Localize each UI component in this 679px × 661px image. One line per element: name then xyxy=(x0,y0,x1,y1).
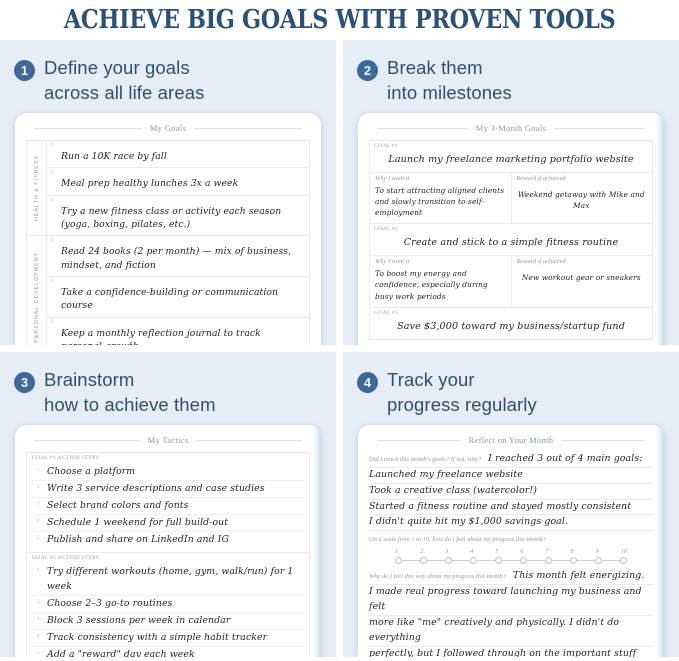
goal-label: GOAL #3 xyxy=(370,308,652,316)
notebook-page-tactics: My Tactics GOAL #1 ACTION STEPS Choose a… xyxy=(14,424,322,657)
reflection-answer-line[interactable]: more like "me" creatively and physically… xyxy=(369,616,653,647)
action-step-item[interactable]: Choose a platform xyxy=(32,464,304,481)
goal-label: GOAL #1 xyxy=(370,141,652,149)
step-number-badge-2: 2 xyxy=(357,60,378,81)
reflection-answer-3-head: This month felt energizing. xyxy=(513,569,644,584)
scale-number: 4 xyxy=(470,548,473,555)
reward-label: Reward if achieved xyxy=(517,175,647,182)
goal-block-2[interactable]: GOAL #2 Create and stick to a simple fit… xyxy=(369,223,653,306)
why-answer: To boost my energy and confidence, espec… xyxy=(375,265,505,301)
goal-row[interactable]: 3 Keep a monthly reflection journal to t… xyxy=(47,318,309,345)
scale-number: 8 xyxy=(571,548,574,555)
reflection-answer-line[interactable]: Took a creative class (watercolor!) xyxy=(369,484,653,500)
action-step-item[interactable]: Publish and share on LinkedIn and IG xyxy=(32,532,304,548)
goal-reward-cell[interactable]: Reward if achieved New workout gear or s… xyxy=(511,256,653,306)
scale-number: 10 xyxy=(621,548,627,555)
panel-4-heading: Track your progress regularly xyxy=(387,368,537,417)
reflection-answer-1-head: I reached 3 out of 4 main goals: xyxy=(488,452,642,467)
3month-sheet-title: My 3-Month Goals xyxy=(369,123,653,133)
panel-brainstorm: 3 Brainstorm how to achieve them My Tact… xyxy=(0,352,336,657)
reflection-question-1-row[interactable]: Did I reach this month's goals? If not, … xyxy=(369,452,653,468)
scale-numbers: 1 2 3 4 5 6 7 8 9 10 xyxy=(395,548,627,555)
panel-define-goals: 1 Define your goals across all life area… xyxy=(0,40,336,345)
action-step-item[interactable]: Select brand colors and fonts xyxy=(32,498,304,515)
scale-dot[interactable] xyxy=(395,557,402,564)
scale-number: 7 xyxy=(545,548,548,555)
panel-break-into-milestones: 2 Break them into milestones My 3-Month … xyxy=(343,40,679,345)
reflection-sheet: Reflect on Your Month Did I reach this m… xyxy=(358,425,664,657)
panel-grid: 1 Define your goals across all life area… xyxy=(0,40,679,657)
notebook-page-goals: My Goals HEALTH & FITNESS 1 Run a 10K ra… xyxy=(14,112,322,345)
panel-2-heading-line2: into milestones xyxy=(387,81,512,106)
goal-why-cell[interactable]: Why I want it To start attracting aligne… xyxy=(370,173,511,223)
goal-section-health: HEALTH & FITNESS 1 Run a 10K race by fal… xyxy=(26,140,310,235)
page-edge-texture xyxy=(312,533,320,611)
scale-dot[interactable] xyxy=(420,557,427,564)
panel-3-header: 3 Brainstorm how to achieve them xyxy=(0,352,336,414)
goal-title: Create and stick to a simple fitness rou… xyxy=(370,232,652,255)
why-label: Why I want it xyxy=(375,175,505,182)
section-label-personal-development: PERSONAL DEVELOPMENT xyxy=(27,236,47,345)
goal-reward-cell[interactable]: Reward if achieved Weekend getaway with … xyxy=(511,173,653,223)
scale-dot[interactable] xyxy=(445,557,452,564)
action-step-list: Try different workouts (home, gym, walk/… xyxy=(32,564,304,657)
action-steps-label: GOAL #2 ACTION STEPS xyxy=(32,555,304,561)
scale-dot[interactable] xyxy=(620,557,627,564)
notebook-page-3month-goals: My 3-Month Goals GOAL #1 Launch my freel… xyxy=(357,112,665,345)
goal-block-3[interactable]: GOAL #3 Save $3,000 toward my business/s… xyxy=(369,307,653,340)
panel-1-header: 1 Define your goals across all life area… xyxy=(0,40,336,102)
action-steps-block-1[interactable]: GOAL #1 ACTION STEPS Choose a platform W… xyxy=(26,452,310,552)
row-number: 1 xyxy=(51,238,54,243)
page-title: ACHIEVE BIG GOALS WITH PROVEN TOOLS xyxy=(64,5,615,35)
row-number: 3 xyxy=(51,320,54,325)
progress-rating-scale[interactable]: 1 2 3 4 5 6 7 8 9 10 xyxy=(369,548,653,565)
goal-why-cell[interactable]: Why I want it To boost my energy and con… xyxy=(370,256,511,306)
scale-track xyxy=(395,556,627,565)
action-step-item[interactable]: Write 3 service descriptions and case st… xyxy=(32,481,304,498)
panel-4-heading-line1: Track your xyxy=(387,369,475,390)
goal-title: Launch my freelance marketing portfolio … xyxy=(370,149,652,172)
scale-number: 9 xyxy=(596,548,599,555)
reflection-answer-line[interactable]: I made real progress toward launching my… xyxy=(369,585,653,616)
action-steps-block-2[interactable]: GOAL #2 ACTION STEPS Try different worko… xyxy=(26,552,310,657)
reflection-answer-line[interactable]: Launched my freelance website xyxy=(369,468,653,484)
title-bar: ACHIEVE BIG GOALS WITH PROVEN TOOLS xyxy=(0,0,679,40)
scale-number: 2 xyxy=(420,548,423,555)
panel-2-heading-line1: Break them xyxy=(387,57,483,78)
action-step-item[interactable]: Track consistency with a simple habit tr… xyxy=(32,630,304,647)
panel-1-heading: Define your goals across all life areas xyxy=(44,56,204,105)
panel-track-progress: 4 Track your progress regularly Reflect … xyxy=(343,352,679,657)
notebook-page-reflection: Reflect on Your Month Did I reach this m… xyxy=(357,424,665,657)
goal-rows-personal-development: 1 Read 24 books (2 per month) — mix of b… xyxy=(47,236,309,345)
action-step-item[interactable]: Try different workouts (home, gym, walk/… xyxy=(32,564,304,596)
reflection-answer-line[interactable]: Started a fitness routine and stayed mos… xyxy=(369,500,653,516)
scale-dots xyxy=(395,557,627,564)
scale-dot[interactable] xyxy=(470,557,477,564)
scale-number: 5 xyxy=(495,548,498,555)
action-step-item[interactable]: Schedule 1 weekend for full build-out xyxy=(32,515,304,532)
reflection-question-3: Why do I feel this way about my progress… xyxy=(369,573,506,580)
tactics-sheet-title: My Tactics xyxy=(26,435,310,445)
scale-number: 1 xyxy=(395,548,398,555)
goal-text: Try a new fitness class or activity each… xyxy=(61,198,303,232)
row-number: 3 xyxy=(51,198,54,203)
scale-dot[interactable] xyxy=(495,557,502,564)
panel-1-heading-line2: across all life areas xyxy=(44,81,204,106)
row-number: 2 xyxy=(51,279,54,284)
action-step-item[interactable]: Choose 2–3 go-to routines xyxy=(32,596,304,613)
reward-label: Reward if achieved xyxy=(517,258,647,265)
goal-text: Read 24 books (2 per month) — mix of bus… xyxy=(61,238,303,272)
goal-row[interactable]: 1 Run a 10K race by fall xyxy=(47,141,309,168)
goal-row[interactable]: 2 Take a confidence-building or communic… xyxy=(47,277,309,318)
panel-3-heading: Brainstorm how to achieve them xyxy=(44,368,216,417)
goal-block-1[interactable]: GOAL #1 Launch my freelance marketing po… xyxy=(369,140,653,223)
step-number-badge-4: 4 xyxy=(357,372,378,393)
goal-row[interactable]: 2 Meal prep healthy lunches 3x a week xyxy=(47,168,309,195)
scale-number: 3 xyxy=(445,548,448,555)
reward-answer: Weekend getaway with Mike and Max xyxy=(517,182,647,211)
scale-dot[interactable] xyxy=(570,557,577,564)
action-step-item[interactable]: Add a "reward" day each week xyxy=(32,647,304,657)
why-label: Why I want it xyxy=(375,258,505,265)
panel-4-header: 4 Track your progress regularly xyxy=(343,352,679,414)
goals-sheet-title: My Goals xyxy=(26,123,310,133)
section-label-health: HEALTH & FITNESS xyxy=(27,141,47,235)
panel-2-heading: Break them into milestones xyxy=(387,56,512,105)
goal-text: Meal prep healthy lunches 3x a week xyxy=(61,170,303,190)
panel-2-header: 2 Break them into milestones xyxy=(343,40,679,102)
action-step-item[interactable]: Block 3 sessions per week in calendar xyxy=(32,613,304,630)
goals-sheet: My Goals HEALTH & FITNESS 1 Run a 10K ra… xyxy=(15,113,321,345)
3month-goals-sheet: My 3-Month Goals GOAL #1 Launch my freel… xyxy=(358,113,664,345)
goal-text: Take a confidence-building or communicat… xyxy=(61,279,303,313)
goal-row[interactable]: 1 Read 24 books (2 per month) — mix of b… xyxy=(47,236,309,277)
action-steps-label: GOAL #1 ACTION STEPS xyxy=(32,455,304,461)
reflection-answer-line[interactable]: I didn't quite hit my $1,000 savings goa… xyxy=(369,515,653,531)
reflection-answer-line[interactable]: perfectly, but I followed through on the… xyxy=(369,647,653,657)
scale-dot[interactable] xyxy=(520,557,527,564)
reflection-sheet-title: Reflect on Your Month xyxy=(369,435,653,445)
scale-number: 6 xyxy=(520,548,523,555)
scale-dot[interactable] xyxy=(545,557,552,564)
panel-3-heading-line2: how to achieve them xyxy=(44,393,216,418)
step-number-badge-1: 1 xyxy=(14,60,35,81)
goal-rows-health: 1 Run a 10K race by fall 2 Meal prep hea… xyxy=(47,141,309,235)
goal-text: Keep a monthly reflection journal to tra… xyxy=(61,320,303,345)
why-answer: To start attracting aligned clients and … xyxy=(375,182,505,218)
infographic-page: ACHIEVE BIG GOALS WITH PROVEN TOOLS 1 De… xyxy=(0,0,679,661)
goal-section-personal-development: PERSONAL DEVELOPMENT 1 Read 24 books (2 … xyxy=(26,235,310,345)
goal-row[interactable]: 3 Try a new fitness class or activity ea… xyxy=(47,196,309,236)
goal-text: Run a 10K race by fall xyxy=(61,143,303,163)
panel-4-heading-line2: progress regularly xyxy=(387,393,537,418)
row-number: 1 xyxy=(51,143,54,148)
goal-label: GOAL #2 xyxy=(370,224,652,232)
goal-detail-split: Why I want it To start attracting aligne… xyxy=(370,172,652,223)
tactics-sheet: My Tactics GOAL #1 ACTION STEPS Choose a… xyxy=(15,425,321,657)
goal-detail-split: Why I want it To boost my energy and con… xyxy=(370,255,652,306)
panel-3-heading-line1: Brainstorm xyxy=(44,369,134,390)
reflection-question-3-row[interactable]: Why do I feel this way about my progress… xyxy=(369,569,653,585)
reflection-question-1: Did I reach this month's goals? If not, … xyxy=(369,456,481,463)
action-step-list: Choose a platform Write 3 service descri… xyxy=(32,464,304,548)
reflection-question-2: On a scale from 1 to 10, how do I feel a… xyxy=(369,536,653,543)
scale-dot[interactable] xyxy=(595,557,602,564)
step-number-badge-3: 3 xyxy=(14,372,35,393)
reward-answer: New workout gear or sneakers xyxy=(517,265,647,283)
goal-title: Save $3,000 toward my business/startup f… xyxy=(370,316,652,339)
row-number: 2 xyxy=(51,170,54,175)
panel-1-heading-line1: Define your goals xyxy=(44,57,190,78)
